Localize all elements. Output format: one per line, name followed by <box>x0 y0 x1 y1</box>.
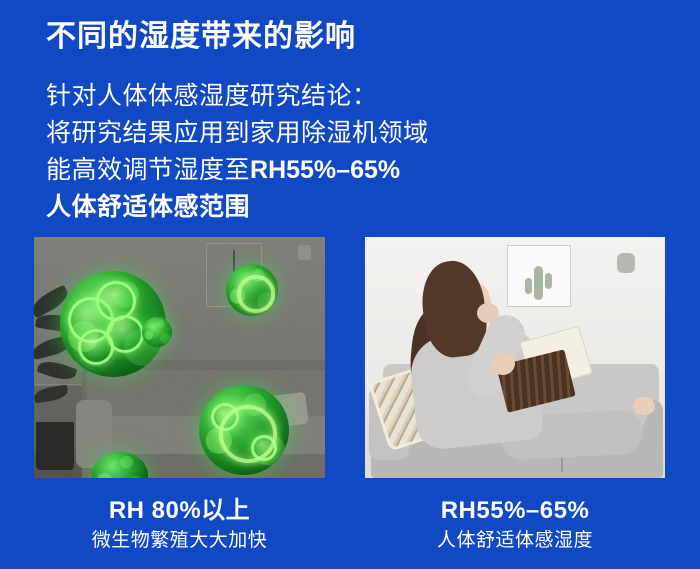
plant-leaf <box>34 385 69 404</box>
dark-room-scene <box>34 237 325 478</box>
wall-knob <box>298 245 311 260</box>
caption-comfort-humidity: RH55%–65% 人体舒适体感湿度 <box>365 496 665 554</box>
woman-foot <box>633 397 655 415</box>
cactus-wall-art <box>507 245 571 307</box>
microbe-sphere <box>199 385 289 475</box>
microbe-sphere <box>226 264 278 316</box>
microbe-sphere-small <box>142 317 172 347</box>
caption-high-humidity: RH 80%以上 微生物繁殖大大加快 <box>34 496 325 554</box>
promo-page: 不同的湿度带来的影响 针对人体体感湿度研究结论： 将研究结果应用到家用除湿机领域… <box>0 0 700 569</box>
microbe-sphere <box>92 452 148 478</box>
plant-pot <box>36 422 74 470</box>
light-room-scene <box>365 237 665 478</box>
body-line-3-highlight: RH55%–65% <box>250 156 400 184</box>
wall-knob <box>617 253 635 273</box>
page-title: 不同的湿度带来的影响 <box>46 17 356 57</box>
caption-title: RH 80%以上 <box>34 496 325 526</box>
photo-high-humidity <box>34 237 325 478</box>
body-line-1: 针对人体体感湿度研究结论： <box>46 78 429 115</box>
body-copy: 针对人体体感湿度研究结论： 将研究结果应用到家用除湿机领域 能高效调节湿度至RH… <box>46 78 429 226</box>
caption-subtitle: 人体舒适体感湿度 <box>365 528 665 554</box>
caption-title: RH55%–65% <box>365 496 665 526</box>
cactus-icon <box>534 266 543 300</box>
caption-subtitle: 微生物繁殖大大加快 <box>34 528 325 554</box>
photo-comfort-humidity <box>365 237 665 478</box>
woman-hand <box>477 303 499 323</box>
body-line-3: 能高效调节湿度至RH55%–65% <box>46 152 429 189</box>
body-line-3-prefix: 能高效调节湿度至 <box>46 156 250 184</box>
body-line-2: 将研究结果应用到家用除湿机领域 <box>46 115 429 152</box>
body-line-4: 人体舒适体感范围 <box>46 189 429 226</box>
